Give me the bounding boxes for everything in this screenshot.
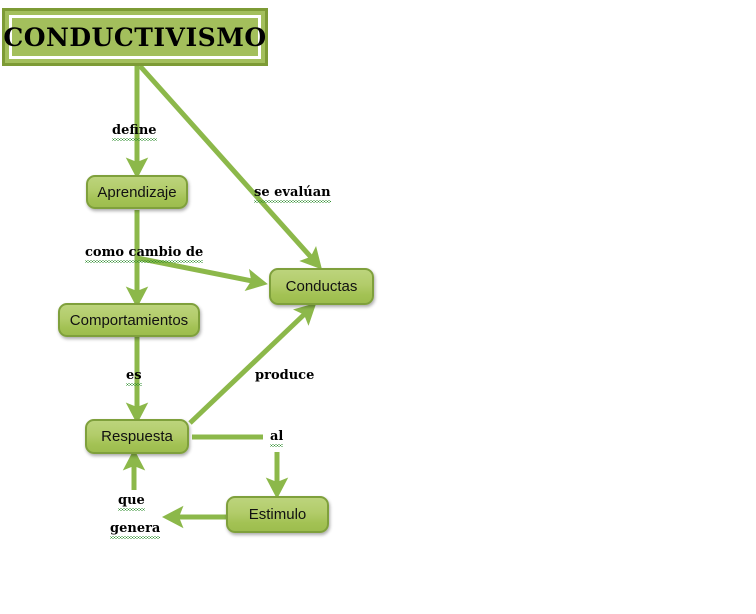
title-inner-border: CONDUCTIVISMO (9, 15, 261, 59)
link-label-define: define (112, 124, 157, 138)
page-title: CONDUCTIVISMO (3, 23, 266, 52)
link-label-produce: produce (255, 369, 314, 383)
node-comportamientos-label: Comportamientos (70, 312, 188, 329)
node-conductas-label: Conductas (286, 278, 358, 295)
node-conductas[interactable]: Conductas (269, 268, 374, 305)
node-estimulo-label: Estimulo (249, 506, 307, 523)
node-comportamientos[interactable]: Comportamientos (58, 303, 200, 337)
edge-conductivismo-conductas (140, 66, 318, 265)
node-estimulo[interactable]: Estimulo (226, 496, 329, 533)
title-banner: CONDUCTIVISMO (2, 8, 268, 66)
link-label-que: que (118, 494, 145, 508)
link-label-como-cambio-de: como cambio de (85, 246, 203, 260)
link-label-se-evaluan: se evalúan (254, 186, 331, 200)
link-label-se-evaluan-text: se evalúan (254, 186, 331, 200)
link-label-al-text: al (270, 430, 283, 444)
node-aprendizaje-label: Aprendizaje (97, 184, 176, 201)
concept-map-canvas: CONDUCTIVISMO Aprendizaje Conductas Comp… (0, 0, 756, 614)
link-label-define-text: define (112, 124, 157, 138)
link-label-produce-text: produce (255, 368, 314, 383)
link-label-como-cambio-de-text: como cambio de (85, 246, 203, 260)
edge-respuesta-conductas (190, 307, 312, 423)
link-label-genera: genera (110, 522, 160, 536)
link-label-que-text: que (118, 494, 145, 508)
link-label-genera-text: genera (110, 522, 160, 536)
link-label-es: es (126, 369, 142, 383)
node-respuesta[interactable]: Respuesta (85, 419, 189, 454)
link-label-al: al (270, 430, 283, 444)
node-respuesta-label: Respuesta (101, 428, 173, 445)
node-aprendizaje[interactable]: Aprendizaje (86, 175, 188, 209)
link-label-es-text: es (126, 369, 142, 383)
